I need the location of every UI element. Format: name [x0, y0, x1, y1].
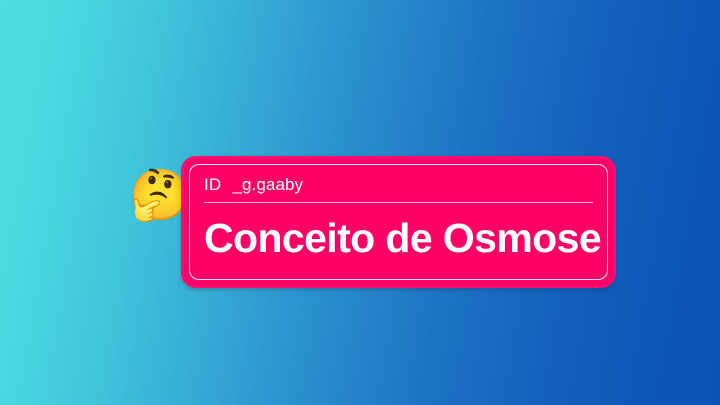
id-row: ID _g.gaaby	[204, 175, 303, 195]
slide-canvas: 🤔 ID _g.gaaby Conceito de Osmose	[0, 0, 720, 405]
id-label: ID	[204, 175, 221, 195]
id-handle-value: _g.gaaby	[232, 175, 303, 195]
card-inner-outline: ID _g.gaaby Conceito de Osmose	[189, 164, 608, 280]
card-title: Conceito de Osmose	[204, 213, 597, 263]
card-divider	[204, 202, 593, 203]
title-card: ID _g.gaaby Conceito de Osmose	[181, 156, 616, 288]
thinking-face-emoji: 🤔	[129, 166, 183, 224]
